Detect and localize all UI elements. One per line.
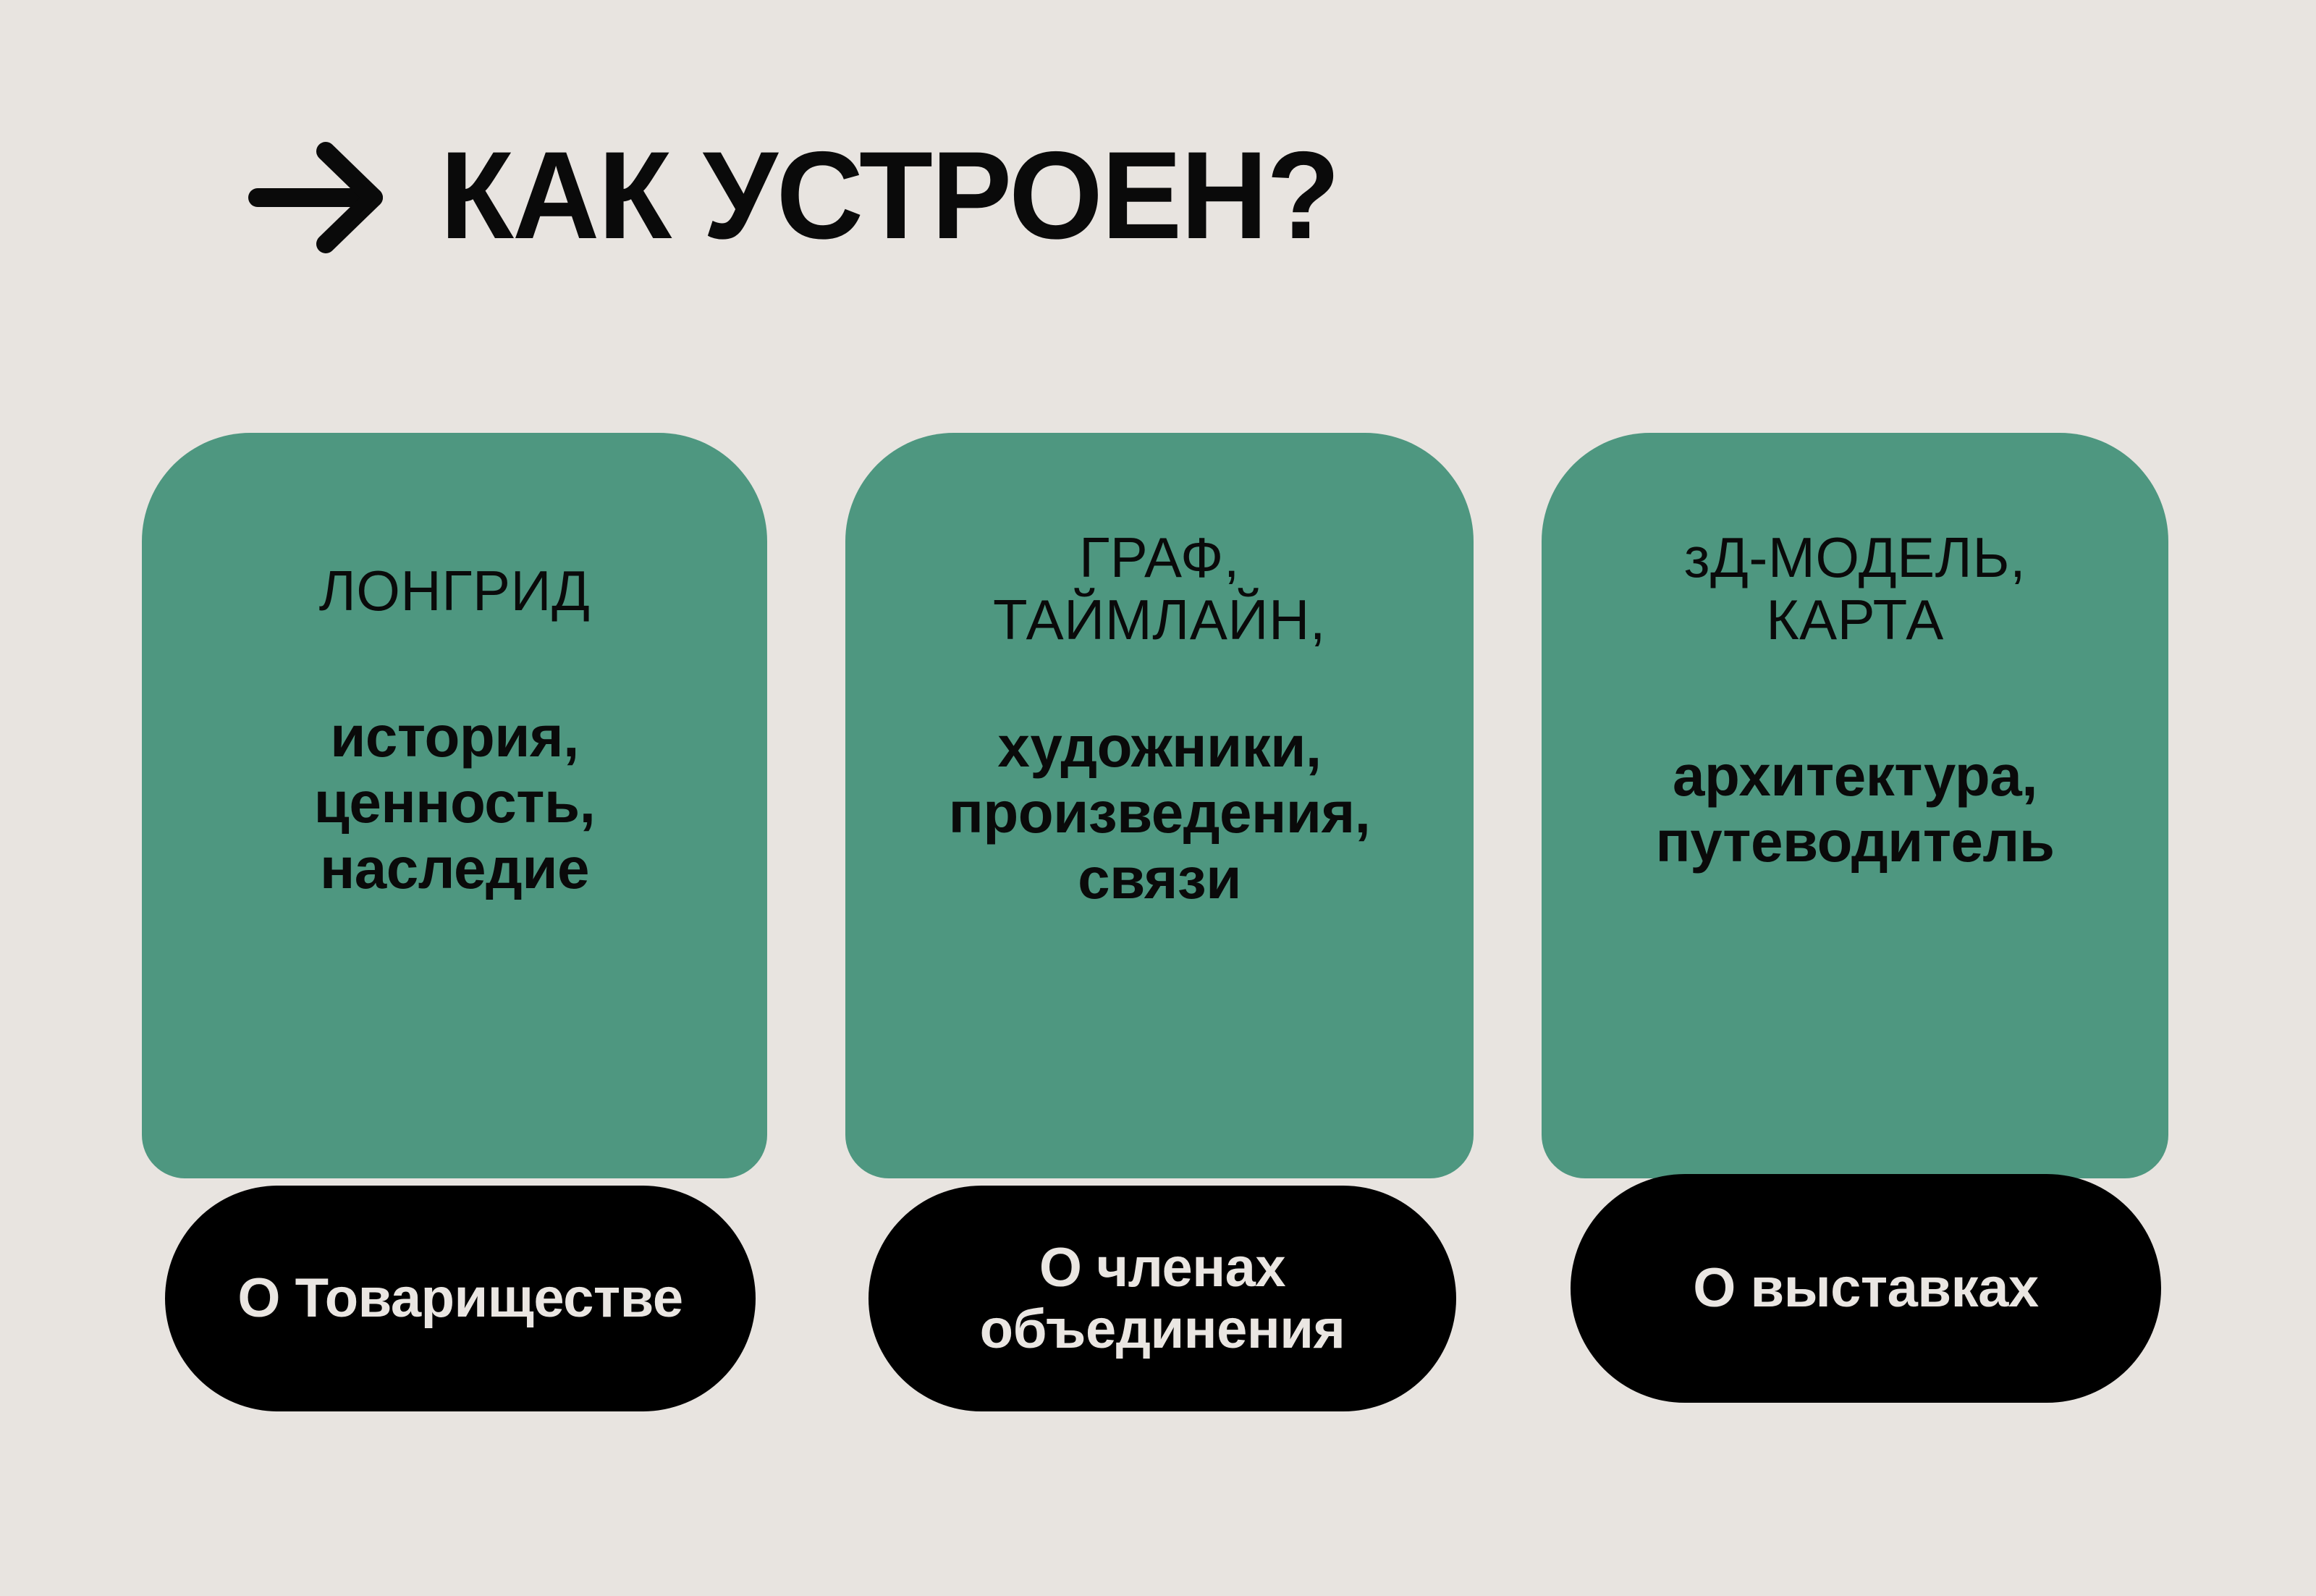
- card-body-text: архитектура, путеводитель: [1571, 743, 2139, 874]
- card-spacer: [171, 622, 738, 704]
- pill-button-label: О Товариществе: [237, 1267, 682, 1329]
- card-heading: ЛОНГРИД: [171, 560, 738, 622]
- card-spacer: [874, 651, 1445, 714]
- card-body-text: художники, произведения, связи: [874, 714, 1445, 912]
- card-content: зД-МОДЕЛЬ, КАРТА архитектура, путеводите…: [1542, 527, 2168, 874]
- card-heading: ГРАФ, ТАЙМЛАЙН,: [874, 527, 1445, 651]
- card-content: ЛОНГРИД история, ценность, наследие: [142, 560, 767, 901]
- pill-button-about-partnership[interactable]: О Товариществе: [165, 1186, 756, 1411]
- info-card-graph-timeline: ГРАФ, ТАЙМЛАЙН, художники, произведения,…: [845, 433, 1474, 1178]
- pill-button-about-exhibitions[interactable]: О выставках: [1571, 1174, 2161, 1403]
- card-content: ГРАФ, ТАЙМЛАЙН, художники, произведения,…: [845, 527, 1474, 911]
- pill-button-label: О членах объединения: [980, 1237, 1345, 1360]
- card-spacer: [1571, 651, 2139, 743]
- info-card-3d-model-map: зД-МОДЕЛЬ, КАРТА архитектура, путеводите…: [1542, 433, 2168, 1178]
- pill-button-about-members[interactable]: О членах объединения: [868, 1186, 1456, 1411]
- card-body-text: история, ценность, наследие: [171, 704, 738, 902]
- card-grid: ЛОНГРИД история, ценность, наследие О То…: [0, 0, 2316, 1596]
- info-card-longread: ЛОНГРИД история, ценность, наследие: [142, 433, 767, 1178]
- pill-button-label: О выставках: [1693, 1257, 2038, 1319]
- card-heading: зД-МОДЕЛЬ, КАРТА: [1571, 527, 2139, 651]
